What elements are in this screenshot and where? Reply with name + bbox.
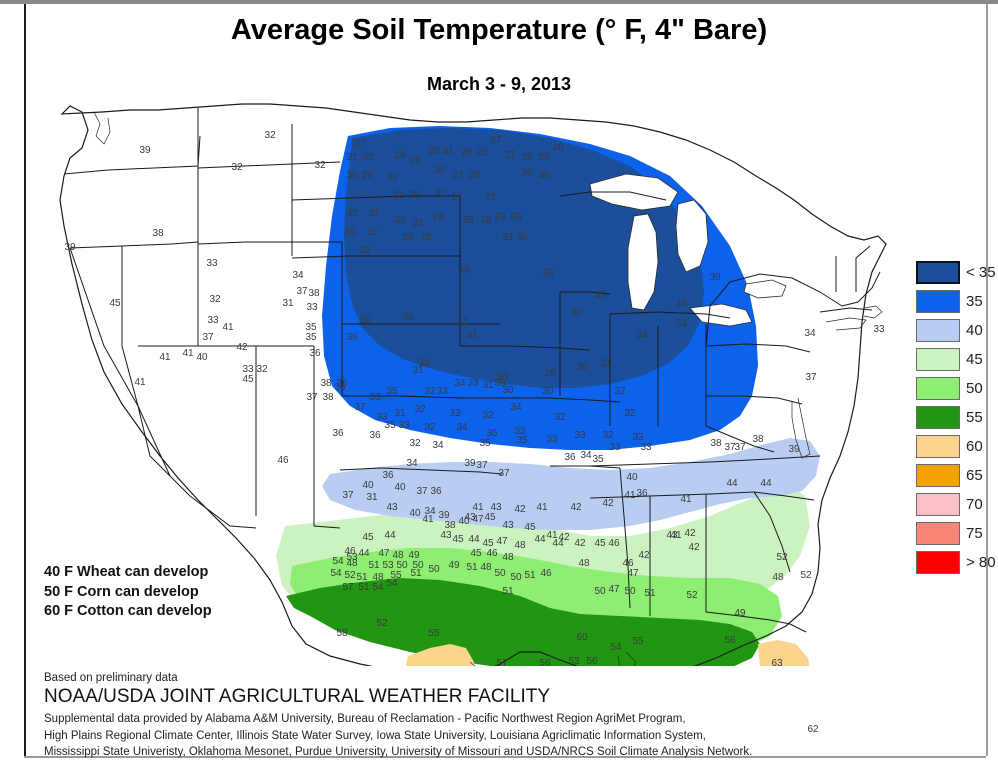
- legend-swatch: [916, 464, 960, 487]
- legend-swatch: [916, 348, 960, 371]
- state-line-mt-wy: [198, 162, 340, 168]
- legend-label: 50: [966, 380, 983, 397]
- legend-row: 40: [916, 316, 992, 345]
- legend-label: 55: [966, 409, 983, 426]
- preliminary-data-note: Based on preliminary data: [44, 672, 964, 684]
- page-title: Average Soil Temperature (° F, 4" Bare): [0, 14, 998, 47]
- legend-row: 70: [916, 490, 992, 519]
- state-line-ne-corner: [842, 272, 880, 306]
- footer-block: Based on preliminary data NOAA/USDA JOIN…: [44, 672, 964, 761]
- legend-row: 65: [916, 461, 992, 490]
- crop-note-line: 50 F Corn can develop: [44, 583, 212, 603]
- crop-development-notes: 40 F Wheat can develop50 F Corn can deve…: [44, 563, 212, 622]
- organization-name: NOAA/USDA JOINT AGRICULTURAL WEATHER FAC…: [44, 686, 964, 708]
- legend-row: 45: [916, 345, 992, 374]
- supplemental-credit-line: High Plains Regional Climate Center, Ill…: [44, 728, 834, 745]
- legend-swatch: [916, 319, 960, 342]
- legend-row: < 35: [916, 258, 992, 287]
- legend-swatch: [916, 551, 960, 574]
- long-island-detail: [826, 318, 866, 330]
- legend-label: 60: [966, 438, 983, 455]
- lake-ontario: [744, 280, 786, 298]
- date-range-subtitle: March 3 - 9, 2013: [0, 74, 998, 95]
- legend-swatch: [916, 435, 960, 458]
- supplemental-credit-line: Mississippi State Univeristy, Oklahoma M…: [44, 744, 834, 761]
- legend-row: 50: [916, 374, 992, 403]
- supplemental-credit-line: Supplemental data provided by Alabama A&…: [44, 711, 834, 728]
- state-line-az-south: [138, 406, 256, 528]
- legend-swatch: [916, 290, 960, 313]
- cape-cod-detail: [864, 306, 882, 318]
- legend-label: 65: [966, 467, 983, 484]
- legend-swatch: [916, 261, 960, 284]
- legend-label: 45: [966, 351, 983, 368]
- legend-swatch: [916, 493, 960, 516]
- crop-note-line: 60 F Cotton can develop: [44, 602, 212, 622]
- state-line-or-ca: [70, 242, 198, 248]
- legend-label: 35: [966, 293, 983, 310]
- legend-row: > 80: [916, 548, 992, 577]
- supplemental-data-credits: Supplemental data provided by Alabama A&…: [44, 711, 834, 761]
- legend-label: < 35: [966, 264, 996, 281]
- legend-label: > 80: [966, 554, 996, 571]
- state-line-wy-co: [198, 242, 342, 244]
- legend-row: 35: [916, 287, 992, 316]
- soil-temperature-map-page: Average Soil Temperature (° F, 4" Bare) …: [0, 0, 998, 768]
- legend-swatch: [916, 377, 960, 400]
- legend-swatch: [916, 406, 960, 429]
- legend-label: 40: [966, 322, 983, 339]
- legend-row: 60: [916, 432, 992, 461]
- legend-label: 75: [966, 525, 983, 542]
- legend-swatch: [916, 522, 960, 545]
- band-60-florida: [758, 640, 812, 666]
- frame-top-border: [0, 0, 998, 4]
- frame-left-border: [24, 4, 26, 756]
- legend-row: 75: [916, 519, 992, 548]
- legend-label: 70: [966, 496, 983, 513]
- crop-note-line: 40 F Wheat can develop: [44, 563, 212, 583]
- legend-row: 55: [916, 403, 992, 432]
- temperature-legend: < 35354045505560657075> 80: [916, 258, 992, 577]
- puget-sound-detail: [94, 112, 110, 144]
- state-line-ca-nv: [70, 248, 170, 476]
